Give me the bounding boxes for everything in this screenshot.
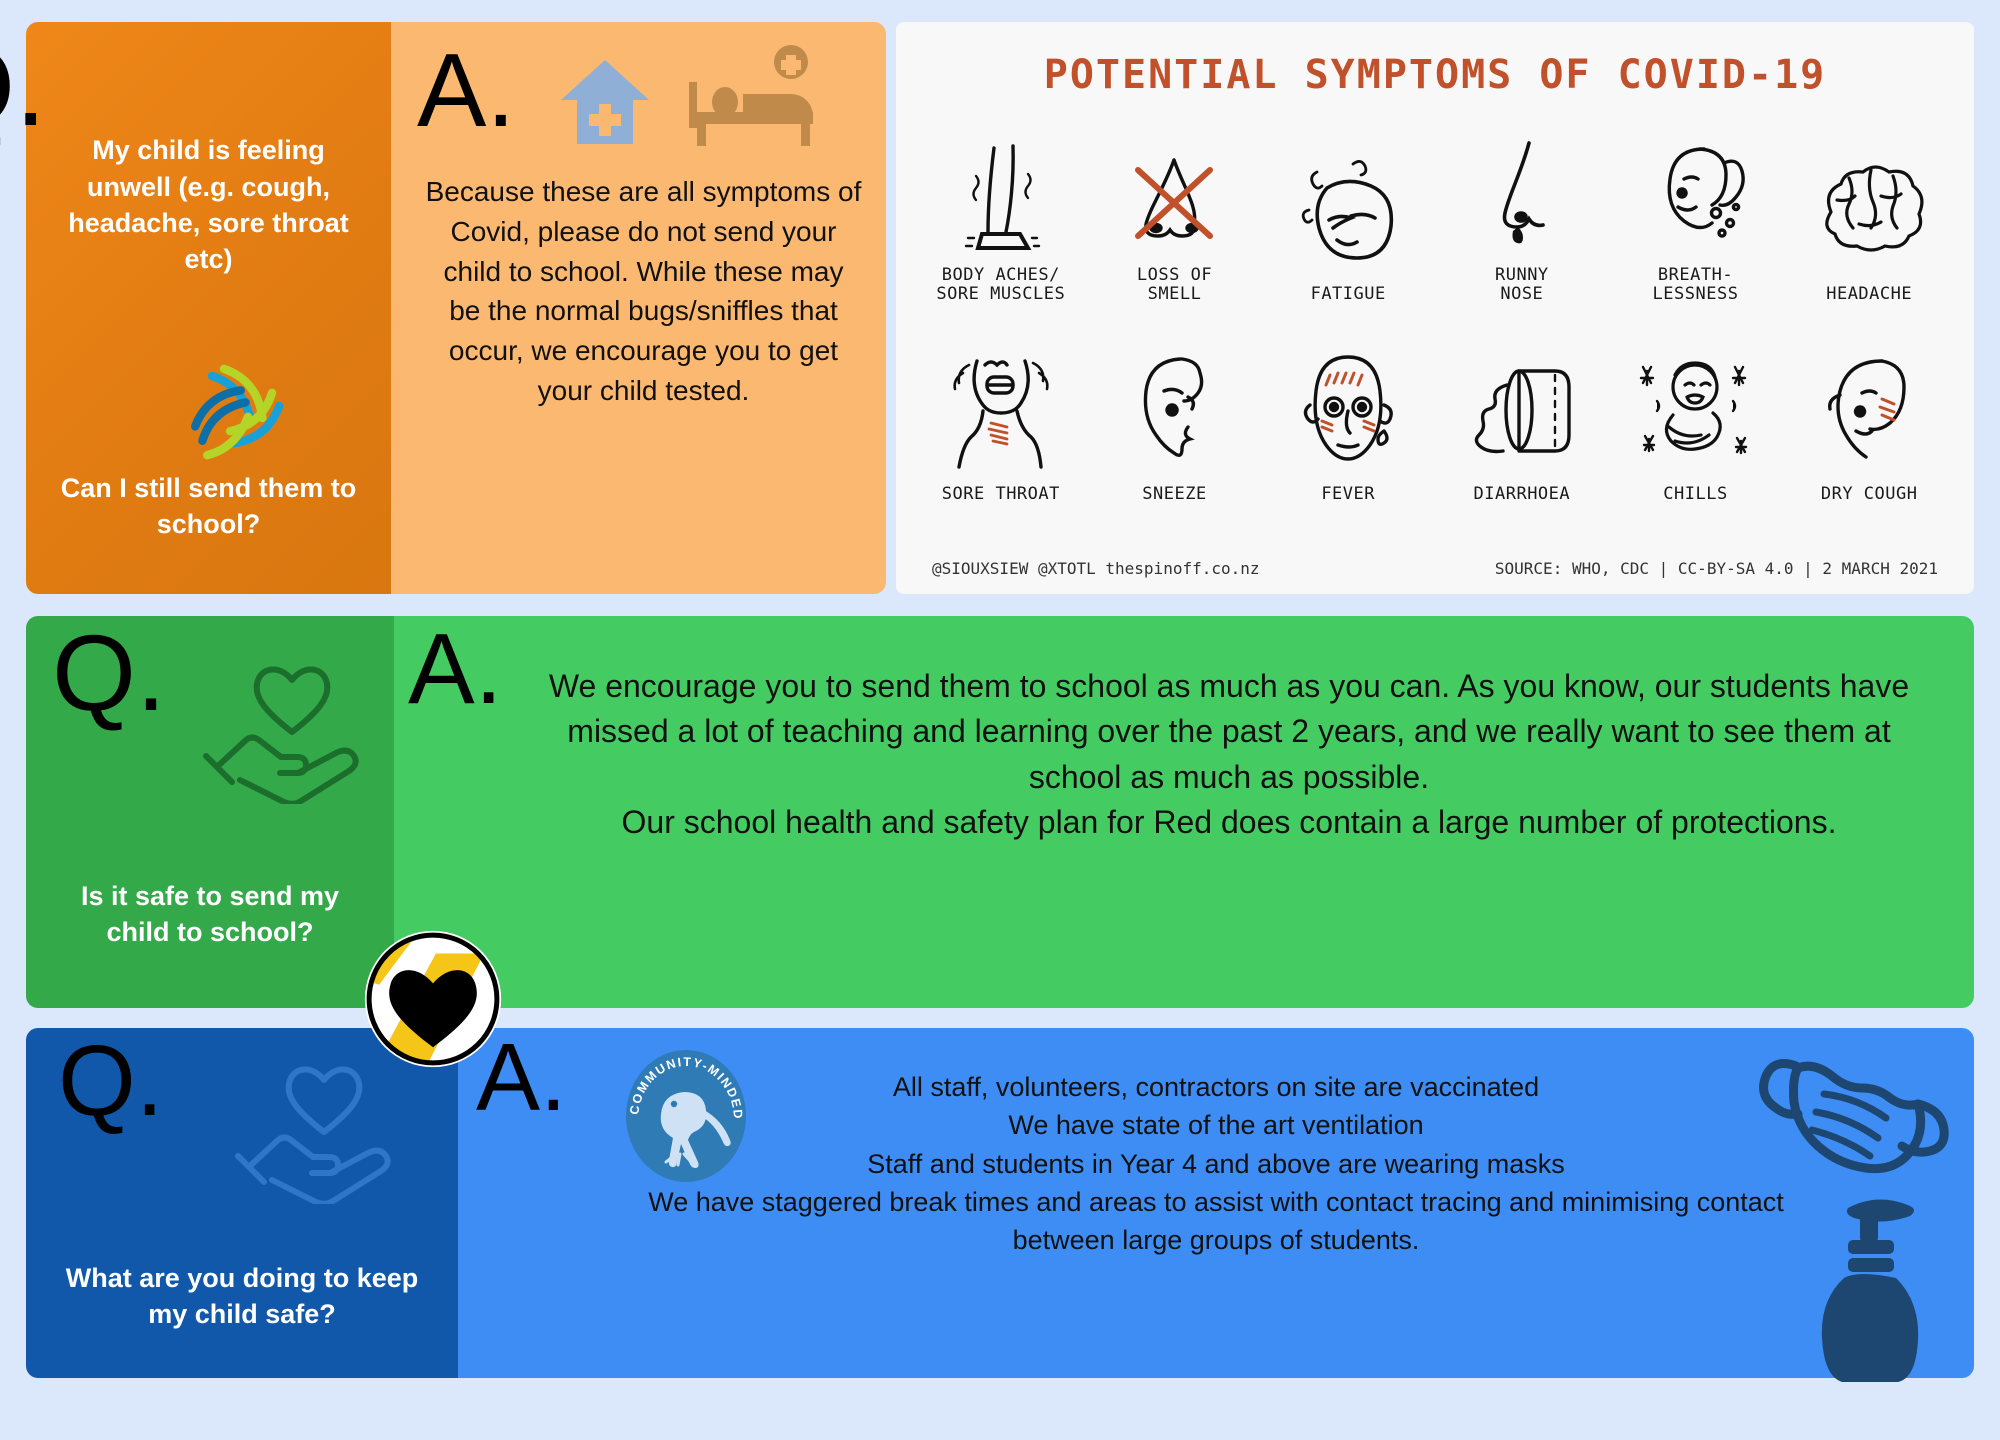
symptom-item: DIARRHOEA: [1435, 308, 1609, 504]
answer-block-keep-safe: A. COMMUNITY-MINDED All staff, volunteer…: [458, 1028, 1974, 1378]
poster-credits: @SIOUXSIEW @XTOTL thespinoff.co.nz SOURC…: [896, 559, 1974, 578]
hand-sanitiser-icon: [1804, 1174, 1954, 1384]
symptom-item: DRY COUGH: [1782, 308, 1956, 504]
q-letter: Q.: [0, 34, 46, 140]
symptom-item: CHILLS: [1609, 308, 1783, 504]
symptom-item: LOSS OFSMELL: [1088, 108, 1262, 304]
question-block-keep-safe: Q. What are you doing to keep my child s…: [26, 1028, 458, 1378]
answer-block-safety: A. We encourage you to send them to scho…: [394, 616, 1974, 1008]
question-block-unwell: Q. My child is feeling unwell (e.g. coug…: [26, 22, 391, 594]
symptom-item: HEADACHE: [1782, 108, 1956, 304]
answer-text: All staff, volunteers, contractors on si…: [618, 1068, 1814, 1260]
dripping-nose-icon: [1477, 135, 1567, 260]
tired-face-icon: [1293, 154, 1403, 279]
symptom-label: BODY ACHES/SORE MUSCLES: [936, 266, 1065, 304]
q-letter: Q.: [26, 622, 166, 725]
faq-row-safety: Q. Is it safe to send my child to school…: [26, 616, 1974, 1008]
symptom-item: FEVER: [1261, 308, 1435, 504]
feverish-face-icon: [1292, 349, 1404, 479]
credit-authors: @SIOUXSIEW @XTOTL thespinoff.co.nz: [932, 559, 1260, 578]
symptom-grid-row-1: BODY ACHES/SORE MUSCLES LOSS OFSMELL: [896, 108, 1974, 304]
knot-logo-icon: [176, 352, 296, 472]
question-text: What are you doing to keep my child safe…: [26, 1260, 458, 1332]
infographic-canvas: Q. My child is feeling unwell (e.g. coug…: [0, 0, 2000, 1440]
symptom-label: SORE THROAT: [942, 485, 1060, 504]
covid-symptoms-poster: POTENTIAL SYMPTOMS OF COVID-19 BODY ACHE…: [896, 22, 1974, 594]
symptom-item: BREATH-LESSNESS: [1609, 108, 1783, 304]
heart-in-hand-icon: [194, 654, 384, 804]
coughing-face-icon: [1812, 349, 1927, 479]
question-block-safety: Q. Is it safe to send my child to school…: [26, 616, 394, 1008]
brain-icon: [1809, 154, 1929, 279]
symptom-label: HEADACHE: [1826, 285, 1912, 304]
symptom-label: FEVER: [1321, 485, 1375, 504]
symptom-label: RUNNYNOSE: [1495, 266, 1549, 304]
patient-in-bed-icon: [681, 44, 831, 154]
faq-row-unwell: Q. My child is feeling unwell (e.g. coug…: [26, 22, 886, 594]
face-mask-icon: [1750, 1038, 1960, 1188]
question-text-secondary: Can I still send them to school?: [26, 470, 391, 542]
crossed-out-nose-icon: [1124, 140, 1224, 260]
breathless-face-icon: [1638, 135, 1753, 260]
symptom-grid-row-2: SORE THROAT SNEEZE: [896, 308, 1974, 504]
symptom-item: FATIGUE: [1261, 108, 1435, 304]
symptom-label: BREATH-LESSNESS: [1653, 266, 1739, 304]
sore-throat-icon: [941, 349, 1061, 479]
symptom-label: DIARRHOEA: [1474, 485, 1571, 504]
question-text: Is it safe to send my child to school?: [26, 878, 394, 950]
symptom-label: LOSS OFSMELL: [1137, 266, 1212, 304]
symptom-label: DRY COUGH: [1821, 485, 1918, 504]
symptom-label: CHILLS: [1663, 485, 1727, 504]
aching-leg-icon: [958, 140, 1044, 260]
credit-source: SOURCE: WHO, CDC | CC-BY-SA 4.0 | 2 MARC…: [1495, 559, 1938, 578]
sneezing-face-icon: [1124, 349, 1224, 479]
hospital-house-icon: [551, 52, 659, 152]
question-text-primary: My child is feeling unwell (e.g. cough, …: [26, 132, 391, 277]
symptom-label: FATIGUE: [1311, 285, 1386, 304]
poster-title: POTENTIAL SYMPTOMS OF COVID-19: [896, 52, 1974, 98]
symptom-label: SNEEZE: [1142, 485, 1206, 504]
faq-row-keep-safe: Q. What are you doing to keep my child s…: [26, 1028, 1974, 1378]
heart-badge-icon: [362, 928, 504, 1070]
q-letter: Q.: [26, 1034, 164, 1129]
answer-block-unwell: A. Because these are all symptoms of Cov…: [391, 22, 886, 594]
symptom-item: SNEEZE: [1088, 308, 1262, 504]
answer-text: We encourage you to send them to school …: [524, 664, 1934, 846]
answer-text: Because these are all symptoms of Covid,…: [425, 172, 862, 411]
symptom-item: BODY ACHES/SORE MUSCLES: [914, 108, 1088, 304]
symptom-item: RUNNYNOSE: [1435, 108, 1609, 304]
a-letter: A.: [408, 622, 502, 717]
symptom-item: SORE THROAT: [914, 308, 1088, 504]
heart-in-hand-icon: [226, 1054, 416, 1204]
a-letter: A.: [417, 42, 515, 141]
shivering-person-icon: [1635, 349, 1755, 479]
toilet-roll-icon: [1459, 349, 1584, 479]
